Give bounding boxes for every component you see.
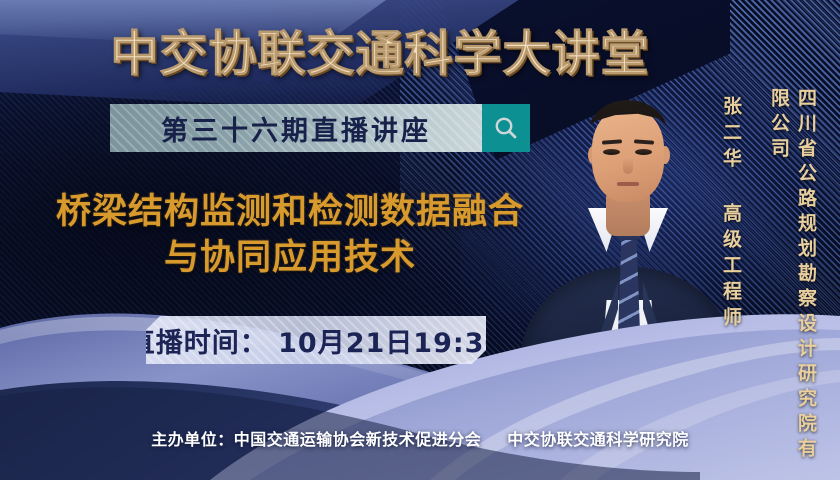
broadcast-time-badge: 直播时间： 10月21日19:30 <box>146 316 486 364</box>
page-title: 中交协联交通科学大讲堂 <box>0 14 760 84</box>
lecture-title-line-2: 与协同应用技术 <box>30 236 550 282</box>
search-icon <box>492 114 520 142</box>
search-icon-container[interactable] <box>482 104 530 152</box>
organizer-name-2: 中交协联交通科学研究院 <box>507 430 689 449</box>
organizer-footer: 主办单位：中国交通运输协会新技术促进分会中交协联交通科学研究院 <box>0 426 840 450</box>
speaker-name-vertical: 张二华 高级工程师 <box>718 96 745 333</box>
speaker-organization-vertical: 四川省公路规划勘察设计研究院有限公司 <box>766 88 820 480</box>
organizer-label: 主办单位： <box>151 430 234 449</box>
portrait-eye-right <box>635 149 652 155</box>
session-label-bar: 第三十六期直播讲座 <box>110 104 482 152</box>
broadcast-time-text: 直播时间： 10月21日19:30 <box>146 321 486 360</box>
lecture-title: 桥梁结构监测和检测数据融合 与协同应用技术 <box>30 190 550 281</box>
portrait-eye-left <box>603 149 620 155</box>
lecture-title-line-1: 桥梁结构监测和检测数据融合 <box>30 190 550 236</box>
portrait-mouth <box>617 182 639 186</box>
portrait-nose <box>623 158 633 174</box>
session-banner: 第三十六期直播讲座 <box>110 104 530 152</box>
session-label: 第三十六期直播讲座 <box>161 109 431 148</box>
organizer-name-1: 中国交通运输协会新技术促进分会 <box>234 430 482 449</box>
portrait-face <box>592 106 664 202</box>
poster-canvas: 中交协联交通科学大讲堂 第三十六期直播讲座 桥梁结构监测和检测数据融合 与协同应… <box>0 0 840 480</box>
